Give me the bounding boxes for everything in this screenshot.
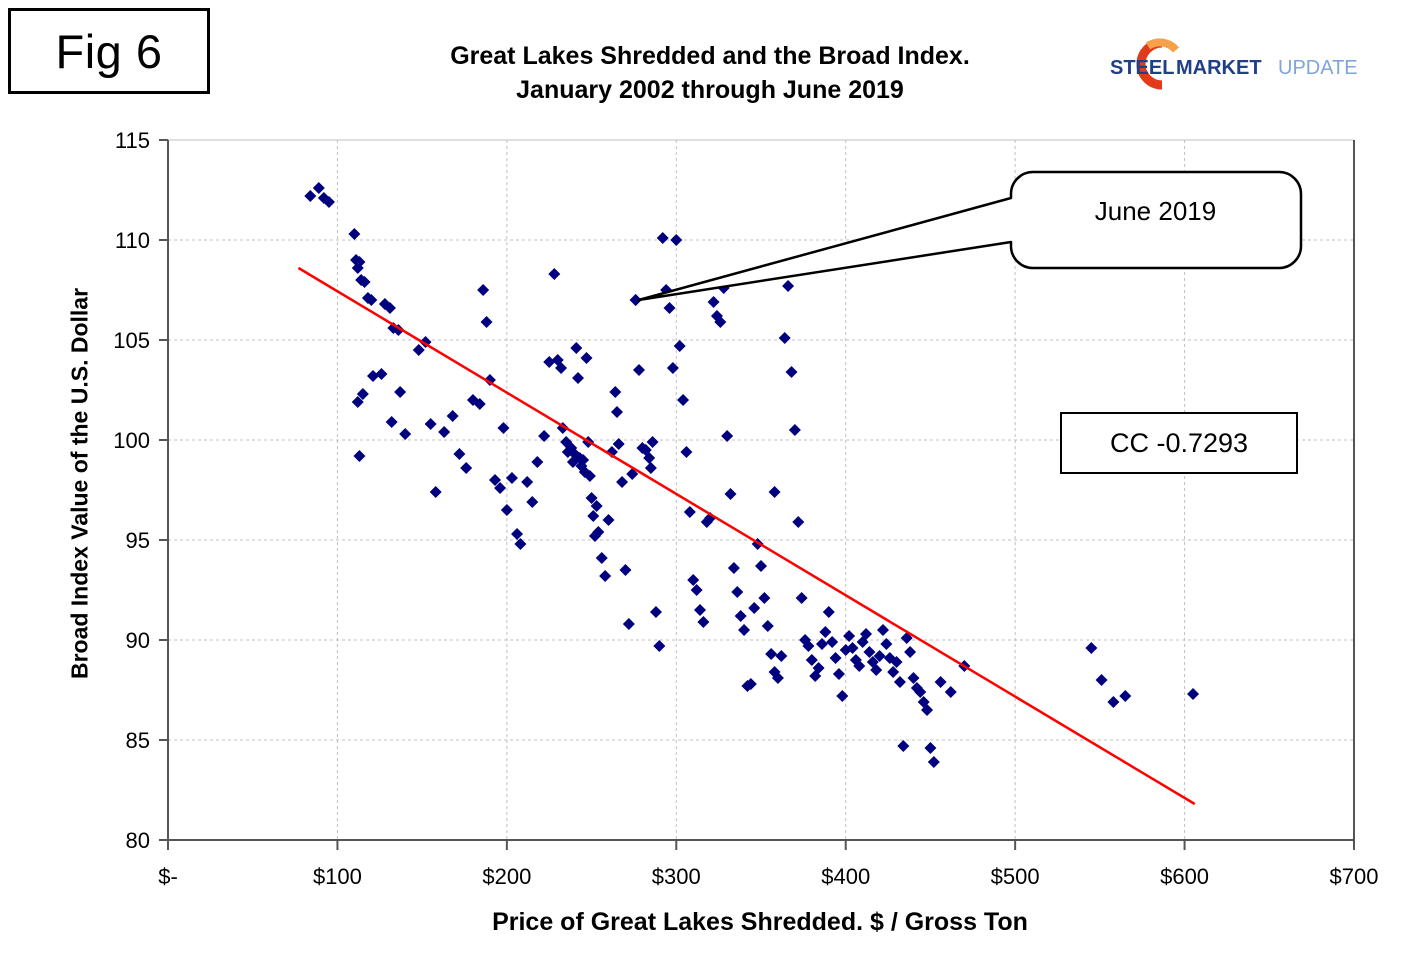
data-point-marker [603, 514, 615, 526]
y-tick-label: 85 [126, 728, 150, 753]
x-tick-label: $300 [652, 864, 701, 889]
data-point-marker [645, 462, 657, 474]
data-point-marker [1119, 690, 1131, 702]
june-2019-callout-shape [639, 172, 1301, 300]
data-point-marker [1096, 674, 1108, 686]
data-point-marker [782, 280, 794, 292]
data-point-marker [796, 592, 808, 604]
data-point-marker [477, 284, 489, 296]
data-point-marker [823, 606, 835, 618]
data-point-marker [680, 446, 692, 458]
y-tick-label: 110 [115, 228, 150, 253]
y-tick-label: 115 [115, 128, 150, 153]
trendline [298, 268, 1194, 804]
data-point-marker [447, 410, 459, 422]
data-point-marker [806, 654, 818, 666]
data-point-marker [367, 370, 379, 382]
data-point-marker [779, 332, 791, 344]
data-point-marker [611, 406, 623, 418]
data-point-marker [348, 228, 360, 240]
data-point-marker [748, 602, 760, 614]
data-point-marker [877, 624, 889, 636]
data-point-marker [833, 668, 845, 680]
data-point-marker [375, 368, 387, 380]
x-tick-label: $- [158, 864, 178, 889]
data-point-marker [904, 646, 916, 658]
data-point-marker [596, 552, 608, 564]
data-point-marker [438, 426, 450, 438]
data-point-marker [304, 190, 316, 202]
data-point-marker [1107, 696, 1119, 708]
data-point-marker [1085, 642, 1097, 654]
data-point-marker [580, 352, 592, 364]
correlation-coefficient-label: CC -0.7293 [1110, 428, 1248, 459]
data-point-marker [670, 234, 682, 246]
data-point-marker [570, 342, 582, 354]
y-tick-label: 80 [126, 828, 150, 853]
data-point-marker [928, 756, 940, 768]
y-tick-label: 90 [126, 628, 150, 653]
data-point-marker [907, 672, 919, 684]
data-point-marker [353, 450, 365, 462]
data-point-marker [531, 456, 543, 468]
data-point-marker [725, 488, 737, 500]
data-point-marker [728, 562, 740, 574]
x-tick-label: $100 [313, 864, 362, 889]
data-point-marker [769, 486, 781, 498]
trendline-path [298, 268, 1194, 804]
data-point-marker [924, 742, 936, 754]
scatter-plot: 80859095100105110115 $-$100$200$300$400$… [0, 0, 1420, 973]
data-point-marker [758, 592, 770, 604]
x-tick-label: $500 [991, 864, 1040, 889]
data-point-marker [674, 340, 686, 352]
data-point-marker [657, 232, 669, 244]
data-point-marker [667, 362, 679, 374]
data-point-marker [506, 472, 518, 484]
data-point-marker [599, 570, 611, 582]
data-point-marker [587, 510, 599, 522]
data-point-marker [863, 646, 875, 658]
data-point-marker [548, 268, 560, 280]
data-point-marker [792, 516, 804, 528]
data-point-marker [894, 676, 906, 688]
data-point-marker [543, 356, 555, 368]
data-point-marker [394, 386, 406, 398]
y-tick-label: 100 [113, 428, 150, 453]
data-point-marker [453, 448, 465, 460]
data-point-marker [633, 364, 645, 376]
data-point-marker [313, 182, 325, 194]
data-point-marker [826, 636, 838, 648]
x-tick-label: $200 [482, 864, 531, 889]
data-point-marker [425, 418, 437, 430]
data-point-marker [830, 652, 842, 664]
data-point-marker [677, 394, 689, 406]
data-point-marker [623, 618, 635, 630]
data-point-marker [684, 506, 696, 518]
data-point-marker [526, 496, 538, 508]
june-2019-callout-label: June 2019 [1013, 196, 1298, 227]
x-tick-label: $700 [1330, 864, 1379, 889]
y-tick-labels: 80859095100105110115 [113, 128, 150, 853]
data-point-marker [731, 586, 743, 598]
data-point-marker [653, 640, 665, 652]
data-point-marker [738, 624, 750, 636]
data-point-marker [789, 424, 801, 436]
data-point-marker [694, 604, 706, 616]
data-point-marker [521, 476, 533, 488]
data-point-marker [481, 316, 493, 328]
data-point-marker [887, 666, 899, 678]
data-point-marker [697, 616, 709, 628]
data-point-marker [647, 436, 659, 448]
data-point-marker [945, 686, 957, 698]
data-point-marker [650, 606, 662, 618]
data-point-marker [785, 366, 797, 378]
data-point-marker [1187, 688, 1199, 700]
data-point-marker [708, 296, 720, 308]
data-point-marker [399, 428, 411, 440]
callout-balloon [639, 172, 1301, 300]
data-point-marker [501, 504, 513, 516]
data-point-marker [755, 560, 767, 572]
data-point-marker [497, 422, 509, 434]
data-point-marker [836, 690, 848, 702]
data-point-marker [735, 610, 747, 622]
data-point-marker [572, 372, 584, 384]
y-tick-label: 105 [113, 328, 150, 353]
x-tick-label: $400 [821, 864, 870, 889]
data-point-marker [687, 574, 699, 586]
y-tick-label: 95 [126, 528, 150, 553]
data-point-marker [511, 528, 523, 540]
data-point-marker [897, 740, 909, 752]
data-point-marker [616, 476, 628, 488]
data-point-marker [819, 626, 831, 638]
x-tick-labels: $-$100$200$300$400$500$600$700 [158, 864, 1378, 889]
data-point-marker [691, 584, 703, 596]
data-point-marker [413, 344, 425, 356]
data-point-marker [386, 416, 398, 428]
x-tick-label: $600 [1160, 864, 1209, 889]
data-point-marker [460, 462, 472, 474]
data-point-marker [935, 676, 947, 688]
data-point-marker [664, 302, 676, 314]
data-point-marker [430, 486, 442, 498]
data-point-marker [609, 386, 621, 398]
data-point-marker [619, 564, 631, 576]
data-point-marker [775, 650, 787, 662]
correlation-coefficient-box: CC -0.7293 [1060, 412, 1298, 474]
data-point-marker [762, 620, 774, 632]
data-point-marker [765, 648, 777, 660]
